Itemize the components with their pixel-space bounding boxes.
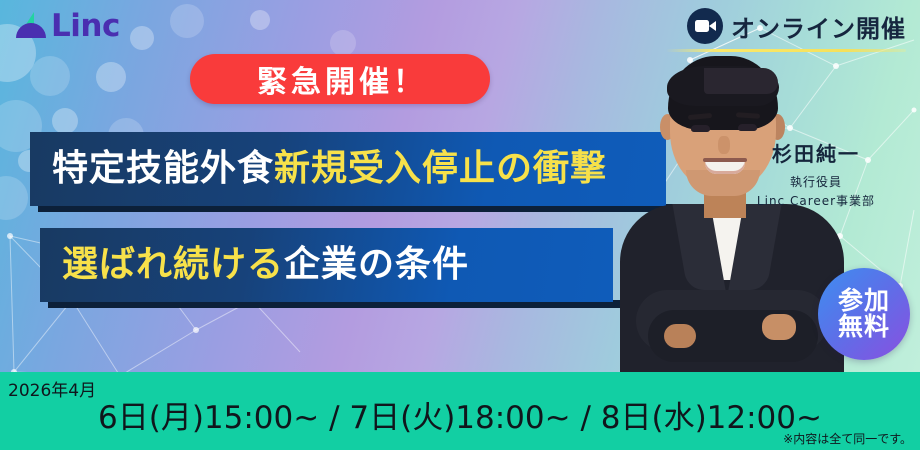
webinar-banner: Linc オンライン開催 緊急開催！ 特定技能外食新規受入停止の衝撃 選ばれ続け… <box>0 0 920 450</box>
photo-hand-left <box>762 314 796 340</box>
schedule-note: ※内容は全て同一です。 <box>783 430 912 447</box>
photo-eye-left <box>691 125 710 132</box>
linc-logo[interactable]: Linc <box>14 9 120 43</box>
photo-nose <box>718 136 730 154</box>
bokeh-circle <box>130 26 154 50</box>
speaker-title: 執行役員 <box>736 173 896 192</box>
urgent-badge: 緊急開催！ <box>190 54 490 104</box>
bokeh-circle <box>0 176 28 220</box>
urgent-badge-label: 緊急開催！ <box>253 57 427 101</box>
speaker-department: Linc Career事業部 <box>736 192 896 211</box>
logo-wordmark: Linc <box>51 11 120 42</box>
bokeh-circle <box>52 108 78 134</box>
schedule-bar: 2026年4月 6日(月)15:00~ / 7日(火)18:00~ / 8日(水… <box>0 372 920 450</box>
headline-band-2: 選ばれ続ける企業の条件 <box>40 228 613 302</box>
camera-lens-shape <box>709 21 716 31</box>
bokeh-circle <box>30 56 70 96</box>
photo-hand-right <box>664 324 696 348</box>
photo-fringe-highlight <box>704 68 778 94</box>
online-event-badge: オンライン開催 <box>687 8 906 44</box>
headline-1-yellow-text: 新規受入停止の衝撃 <box>274 151 607 187</box>
headline-2-white-text: 企業の条件 <box>284 247 469 283</box>
speaker-name: 杉田純一 <box>736 138 896 167</box>
bokeh-circle <box>250 10 270 30</box>
speaker-info: 杉田純一 執行役員 Linc Career事業部 <box>736 138 896 210</box>
free-participation-badge: 参加 無料 <box>818 268 910 360</box>
free-badge-line1: 参加 <box>838 288 890 315</box>
headline-2-yellow-text: 選ばれ続ける <box>40 247 284 283</box>
schedule-dates: 6日(月)15:00~ / 7日(火)18:00~ / 8日(水)12:00~ <box>0 392 920 437</box>
headline-band-1: 特定技能外食新規受入停止の衝撃 <box>30 132 666 206</box>
photo-eye-right <box>738 124 757 131</box>
camera-body-shape <box>695 20 709 32</box>
logo-mark-icon <box>14 9 48 43</box>
logo-dome-icon <box>16 23 46 38</box>
bokeh-circle <box>170 4 204 38</box>
video-camera-icon <box>687 8 723 44</box>
headline-1-white-text: 特定技能外食 <box>30 151 274 187</box>
bokeh-circle <box>330 30 356 56</box>
free-badge-line2: 無料 <box>838 314 890 341</box>
bokeh-circle <box>96 62 126 92</box>
online-event-label: オンライン開催 <box>731 9 906 44</box>
